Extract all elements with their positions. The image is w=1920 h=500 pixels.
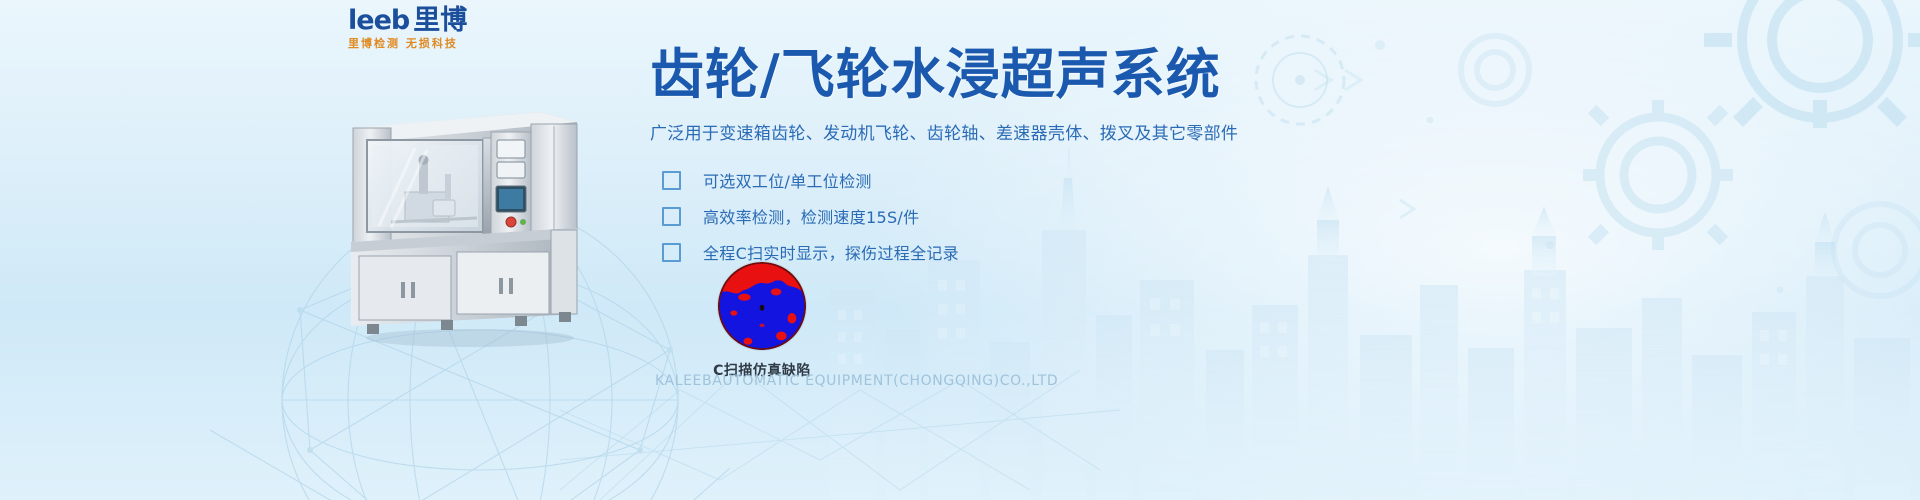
checkbox-icon	[662, 171, 681, 190]
cscan-figure: C扫描仿真缺陷	[672, 262, 852, 380]
machine-photo	[345, 100, 595, 350]
list-item: 可选双工位/单工位检测	[650, 162, 1270, 198]
company-name: KALEEBAUTOMATIC EQUIPMENT(CHONGQING)CO.,…	[655, 373, 1058, 389]
cscan-defect-map	[718, 262, 806, 350]
cscan-image	[718, 262, 806, 350]
feature-list: 可选双工位/单工位检测 高效率检测，检测速度15S/件 全程C扫实时显示，探伤过…	[650, 162, 1270, 270]
logo-chinese: 里博	[413, 5, 467, 36]
banner-content: 齿轮/飞轮水浸超声系统 广泛用于变速箱齿轮、发动机飞轮、齿轮轴、差速器壳体、拨叉…	[650, 45, 1270, 270]
feature-label: 可选双工位/单工位检测	[703, 168, 872, 192]
logo-latin: leeb	[348, 5, 409, 36]
logo-tagline: 里博检测 无损科技	[348, 37, 528, 51]
page-title: 齿轮/飞轮水浸超声系统	[650, 45, 1270, 105]
checkbox-icon	[662, 243, 681, 262]
logo-wordmark: leeb里博	[348, 6, 528, 36]
gear-decoration-icon	[1220, 0, 1920, 330]
list-item: 高效率检测，检测速度15S/件	[650, 198, 1270, 234]
brand-logo[interactable]: leeb里博 里博检测 无损科技	[348, 6, 528, 51]
promo-banner: leeb里博 里博检测 无损科技	[0, 0, 1920, 500]
feature-label: 高效率检测，检测速度15S/件	[703, 204, 919, 228]
checkbox-icon	[662, 207, 681, 226]
page-subtitle: 广泛用于变速箱齿轮、发动机飞轮、齿轮轴、差速器壳体、拨叉及其它零部件	[650, 122, 1270, 146]
feature-label: 全程C扫实时显示，探伤过程全记录	[703, 240, 959, 264]
